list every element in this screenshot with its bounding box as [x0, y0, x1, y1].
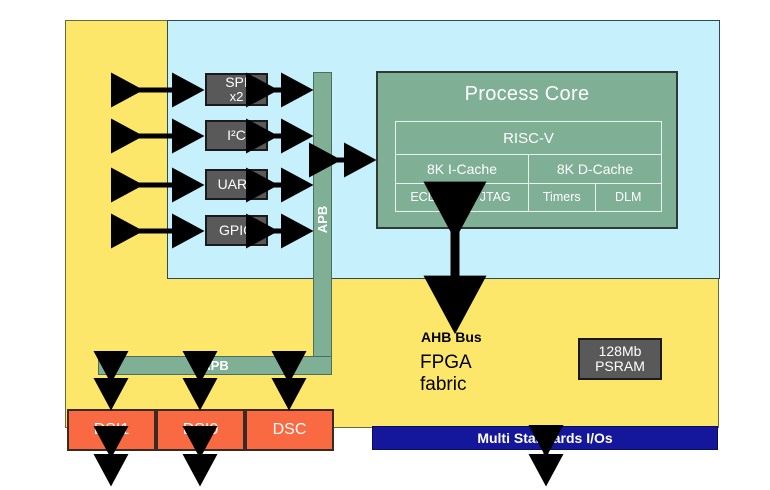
display-block-dsi0-label: DSI0 — [183, 421, 219, 439]
peripheral-spi-sublabel: x2 — [230, 90, 244, 104]
multi-standards-io-label: Multi Standards I/Os — [477, 430, 612, 446]
core-cell-riscv: RISC-V — [396, 122, 661, 154]
peripheral-spi-label: SPI — [225, 75, 248, 90]
psram-block[interactable]: 128Mb PSRAM — [578, 338, 662, 380]
apb-bus-horizontal: APB — [98, 356, 332, 375]
core-cell-icache: 8K I-Cache — [396, 155, 528, 182]
display-block-dsc[interactable]: DSC — [245, 409, 334, 451]
peripheral-spi[interactable]: SPI x2 — [205, 73, 268, 106]
display-block-dsi0[interactable]: DSI0 — [156, 409, 245, 451]
psram-type-label: PSRAM — [595, 359, 645, 374]
core-row-blocks: ECLIC JTAG Timers DLM — [396, 183, 661, 211]
multi-standards-io-bar[interactable]: Multi Standards I/Os — [372, 426, 718, 450]
apb-bus-vertical: APB — [313, 72, 332, 366]
peripheral-i2c-label: I²C — [227, 128, 246, 143]
apb-bus-horizontal-label: APB — [201, 358, 228, 373]
core-cell-eclic: ECLIC — [396, 184, 462, 211]
fpga-fabric-label-line1: FPGA — [420, 352, 472, 374]
process-core-table: RISC-V 8K I-Cache 8K D-Cache ECLIC JTAG … — [395, 121, 662, 212]
display-block-dsi1-label: DSI1 — [94, 421, 130, 439]
psram-size-label: 128Mb — [599, 344, 642, 359]
core-cell-dcache: 8K D-Cache — [528, 155, 661, 182]
block-diagram-canvas: APB APB SPI x2 I²C UART GPIO Process Cor… — [0, 0, 770, 490]
display-block-dsi1[interactable]: DSI1 — [67, 409, 156, 451]
fpga-fabric-label-line2: fabric — [420, 374, 466, 396]
core-cell-dlm: DLM — [595, 184, 662, 211]
process-core-title: Process Core — [378, 73, 676, 106]
display-block-dsc-label: DSC — [273, 421, 307, 439]
core-cell-timers: Timers — [528, 184, 595, 211]
peripheral-uart[interactable]: UART — [205, 169, 268, 200]
apb-bus-vertical-label: APB — [315, 205, 330, 232]
peripheral-gpio-label: GPIO — [219, 223, 254, 238]
core-row-caches: 8K I-Cache 8K D-Cache — [396, 154, 661, 182]
core-cell-jtag: JTAG — [462, 184, 529, 211]
ahb-bus-label: AHB Bus — [421, 329, 482, 345]
process-core-block[interactable]: Process Core RISC-V 8K I-Cache 8K D-Cach… — [376, 71, 678, 229]
core-row-riscv: RISC-V — [396, 122, 661, 154]
peripheral-i2c[interactable]: I²C — [205, 120, 268, 151]
peripheral-uart-label: UART — [218, 177, 256, 192]
peripheral-gpio[interactable]: GPIO — [205, 215, 268, 246]
